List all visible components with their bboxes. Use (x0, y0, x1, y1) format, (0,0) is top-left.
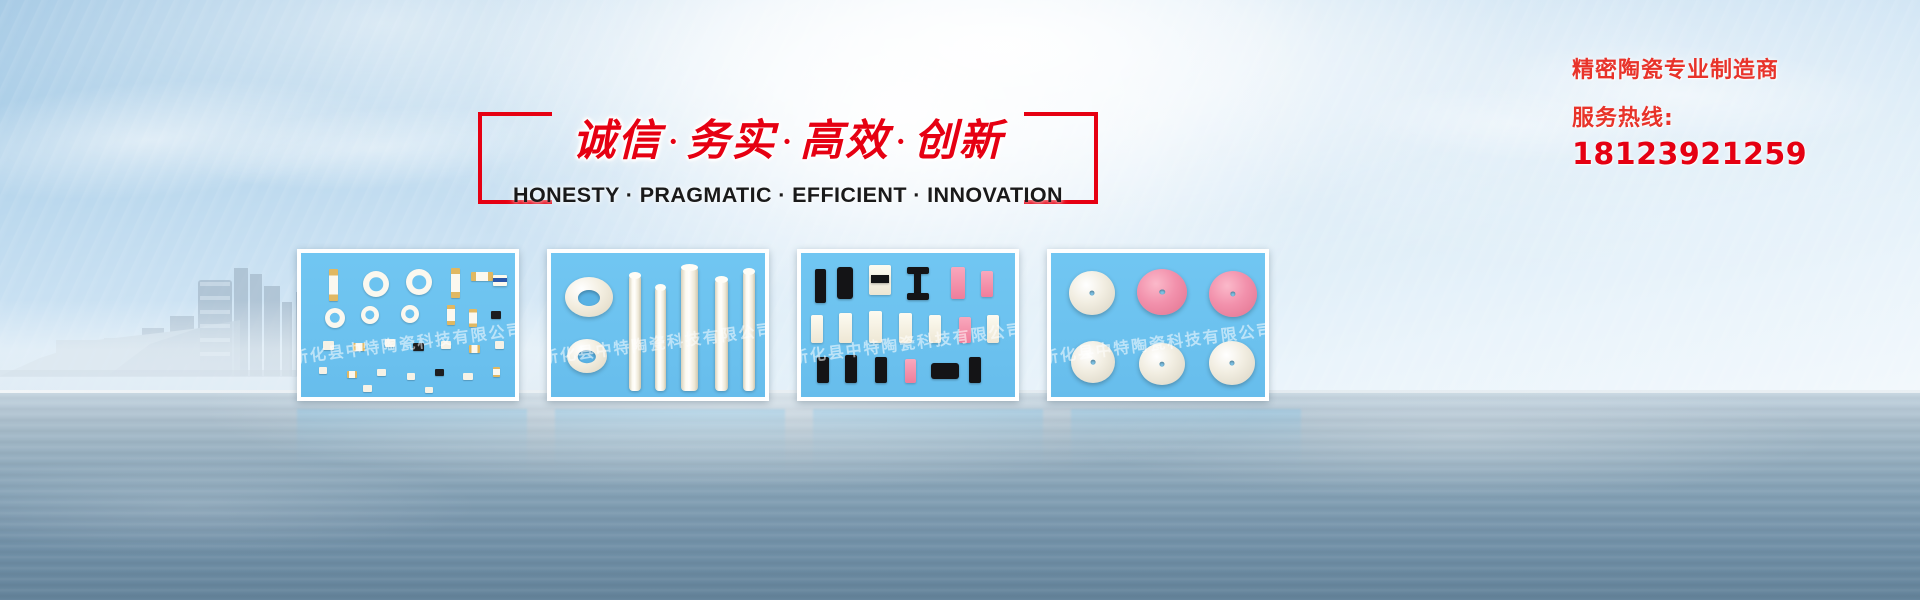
slogan-word-2: 务实 (686, 116, 776, 166)
slogan-word-3: 高效 (800, 116, 890, 166)
hotline-label: 服务热线: (1572, 100, 1882, 132)
product-card-1[interactable]: 新化县中特陶瓷科技有限公司 (297, 249, 519, 401)
product-photo-ceramic-fittings: 新化县中特陶瓷科技有限公司 (801, 253, 1015, 397)
slogan-english: HONESTY · PRAGMATIC · EFFICIENT · INNOVA… (513, 183, 1063, 208)
slogan-chinese: 诚信·务实·高效·创新 (572, 106, 1003, 168)
company-tagline: 精密陶瓷专业制造商 (1572, 52, 1882, 84)
slogan-separator-3: · (890, 125, 914, 158)
contact-block: 精密陶瓷专业制造商 服务热线: 18123921259 (1572, 52, 1882, 172)
product-card-strip: 新化县中特陶瓷科技有限公司 新化县中特陶瓷科技有限公司 (297, 249, 1269, 401)
product-photo-ceramic-discs: 新化县中特陶瓷科技有限公司 (1051, 253, 1265, 397)
product-card-2[interactable]: 新化县中特陶瓷科技有限公司 (547, 249, 769, 401)
slogan-separator-1: · (662, 125, 686, 158)
slogan-word-4: 创新 (914, 116, 1004, 166)
slogan-block: 诚信·务实·高效·创新 HONESTY · PRAGMATIC · EFFICI… (478, 112, 1098, 204)
hero-banner: 诚信·务实·高效·创新 HONESTY · PRAGMATIC · EFFICI… (0, 0, 1920, 600)
product-photo-chip-components: 新化县中特陶瓷科技有限公司 (301, 253, 515, 397)
slogan-separator-2: · (776, 125, 800, 158)
product-card-4[interactable]: 新化县中特陶瓷科技有限公司 (1047, 249, 1269, 401)
slogan-word-1: 诚信 (572, 116, 662, 166)
hotline-phone-number[interactable]: 18123921259 (1572, 137, 1882, 172)
product-photo-ceramic-tubes: 新化县中特陶瓷科技有限公司 (551, 253, 765, 397)
product-card-3[interactable]: 新化县中特陶瓷科技有限公司 (797, 249, 1019, 401)
water-sheen (0, 390, 1920, 600)
